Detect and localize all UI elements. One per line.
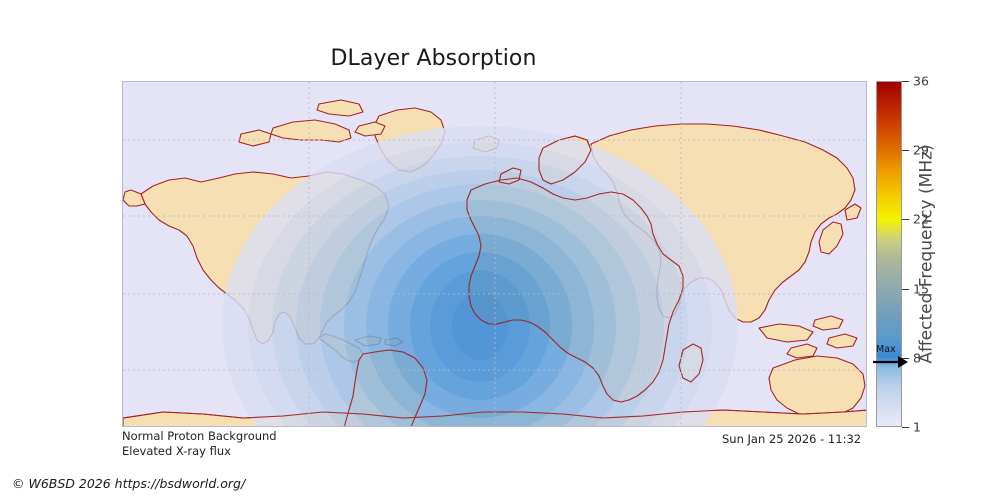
map-svg — [123, 82, 867, 427]
footer-copyright: © W6BSD 2026 https://bsdworld.org/ — [12, 476, 245, 491]
colorbar-tick-mark — [902, 219, 909, 220]
status-note-line2: Elevated X-ray flux — [122, 444, 231, 458]
colorbar-title: Affected Frequency (MHz) — [916, 81, 938, 427]
colorbar-gradient — [876, 81, 902, 427]
page-title: DLayer Absorption — [0, 46, 867, 71]
colorbar: 3629221581 Max — [876, 81, 902, 427]
colorbar-tick-mark — [902, 358, 909, 359]
colorbar-tick-mark — [902, 150, 909, 151]
colorbar-title-text: Affected Frequency (MHz) — [917, 144, 937, 363]
colorbar-tick-mark — [902, 289, 909, 290]
colorbar-tick-mark — [902, 427, 909, 428]
status-note-line1: Normal Proton Background — [122, 429, 277, 443]
world-map-plot — [122, 81, 867, 427]
timestamp: Sun Jan 25 2026 - 11:32 — [722, 432, 861, 446]
colorbar-tick-mark — [902, 81, 909, 82]
